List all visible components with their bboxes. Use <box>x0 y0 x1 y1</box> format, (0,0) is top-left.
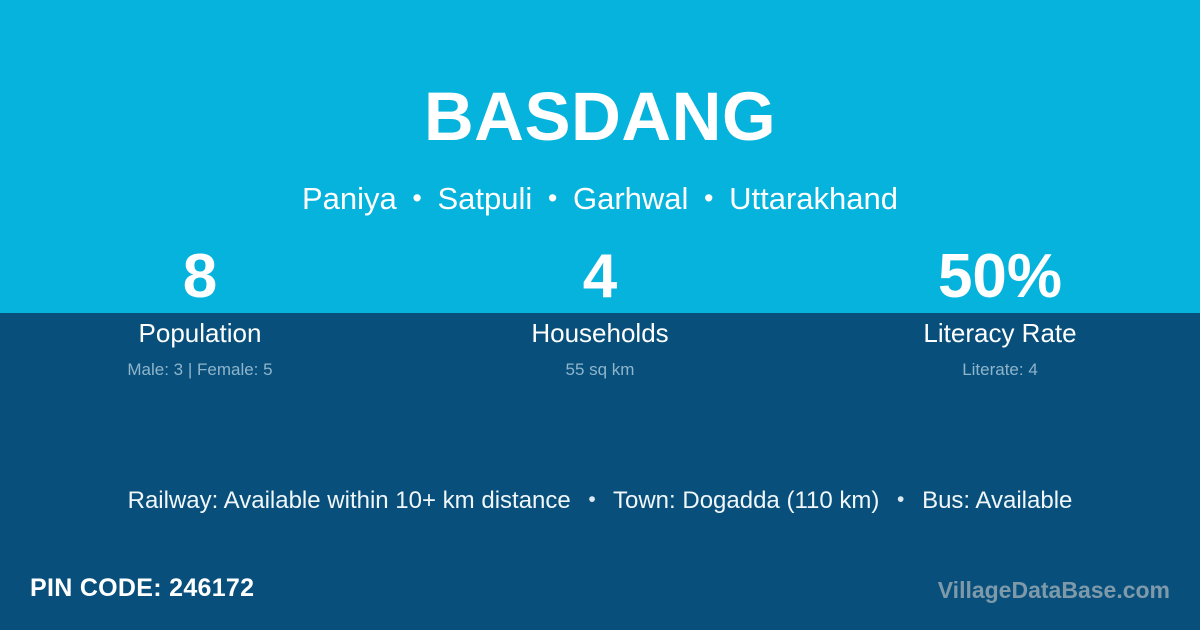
site-brand: VillageDataBase.com <box>938 576 1170 604</box>
stat-population: 8 Population Male: 3 | Female: 5 <box>0 248 400 381</box>
infra-item-railway: Railway: Available within 10+ km distanc… <box>128 487 571 514</box>
stat-label: Literacy Rate <box>800 318 1200 348</box>
infra-separator-icon: • <box>577 484 606 516</box>
stats-row: 8 Population Male: 3 | Female: 5 4 House… <box>0 248 1200 381</box>
breadcrumb-part-state: Uttarakhand <box>729 181 898 216</box>
stat-literacy-rate: 50% Literacy Rate Literate: 4 <box>800 248 1200 381</box>
stat-label: Households <box>400 318 800 348</box>
breadcrumb-separator-icon: • <box>405 182 428 216</box>
breadcrumb-part-district: Garhwal <box>573 181 688 216</box>
breadcrumb-part-block: Satpuli <box>437 181 532 216</box>
footer: PIN CODE: 246172 VillageDataBase.com <box>0 573 1200 613</box>
infrastructure-line: Railway: Available within 10+ km distanc… <box>0 484 1200 517</box>
infra-separator-icon: • <box>886 484 915 516</box>
stat-value: 4 <box>400 248 800 313</box>
stat-value: 50% <box>800 248 1200 313</box>
stat-value: 8 <box>0 248 400 313</box>
stat-sublabel: 55 sq km <box>400 359 800 381</box>
pin-code: PIN CODE: 246172 <box>30 573 254 603</box>
stat-sublabel: Male: 3 | Female: 5 <box>0 359 400 381</box>
stat-sublabel: Literate: 4 <box>800 359 1200 381</box>
breadcrumb-separator-icon: • <box>541 182 564 216</box>
breadcrumb-part-panchayat: Paniya <box>302 181 397 216</box>
stat-label: Population <box>0 318 400 348</box>
stat-households: 4 Households 55 sq km <box>400 248 800 381</box>
location-breadcrumb: Paniya • Satpuli • Garhwal • Uttarakhand <box>0 180 1200 219</box>
page-title: BASDANG <box>0 82 1200 151</box>
breadcrumb-separator-icon: • <box>697 182 720 216</box>
infra-item-town: Town: Dogadda (110 km) <box>613 487 879 514</box>
village-info-card: BASDANG Paniya • Satpuli • Garhwal • Utt… <box>0 0 1200 630</box>
infra-item-bus: Bus: Available <box>922 487 1072 514</box>
